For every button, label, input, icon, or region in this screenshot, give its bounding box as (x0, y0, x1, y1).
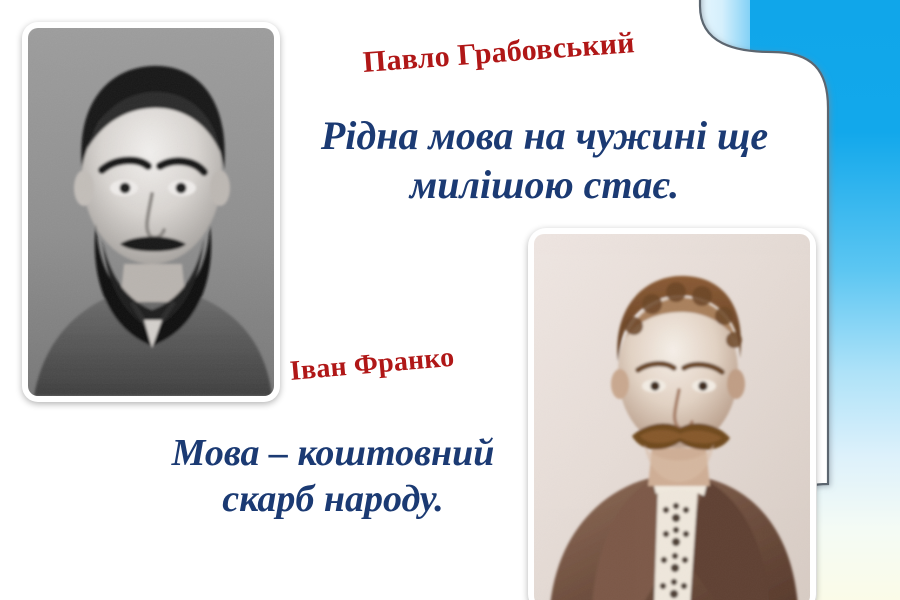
slide-canvas: Павло Грабовський Іван Франко Рідна мова… (0, 0, 900, 600)
quote-franko: Мова – коштовний скарб народу. (118, 430, 548, 523)
portrait-franko (528, 228, 816, 600)
portrait-hrabovskyi (22, 22, 280, 402)
portrait-franko-image (534, 234, 810, 600)
quote-hrabovskyi: Рідна мова на чужині ще милішою стає. (272, 112, 817, 210)
portrait-hrabovskyi-image (28, 28, 274, 396)
